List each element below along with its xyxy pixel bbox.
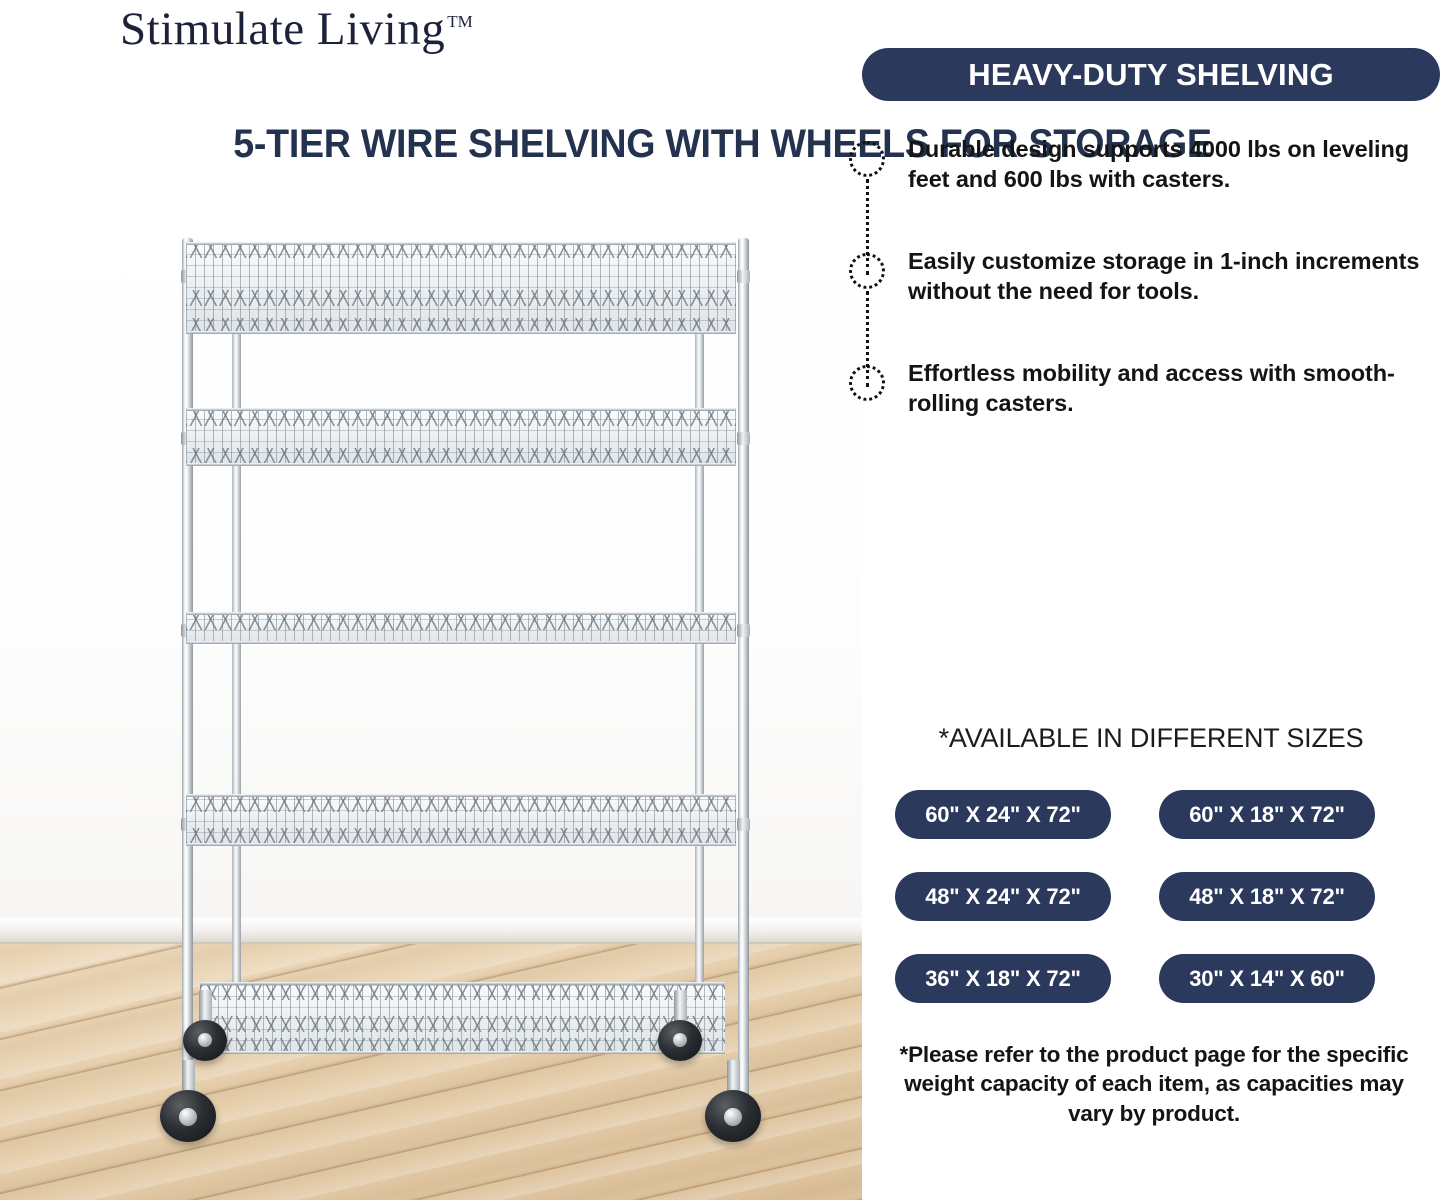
- shelf-tier-5: [200, 982, 725, 1054]
- shelf-collar: [737, 432, 750, 445]
- feature-list: Durable design supports 4000 lbs on leve…: [862, 135, 1445, 471]
- shelf-collar: [737, 624, 750, 637]
- shelf-edge-rail: [186, 794, 736, 797]
- caster-stem: [674, 990, 687, 1024]
- sizes-heading: *AVAILABLE IN DIFFERENT SIZES: [862, 723, 1440, 754]
- shelf-truss: [186, 614, 736, 630]
- shelf-edge-rail: [186, 641, 736, 644]
- heavy-duty-banner-label: HEAVY-DUTY SHELVING: [968, 57, 1334, 93]
- caster-hub: [198, 1033, 212, 1047]
- dotted-circle-icon: [849, 141, 885, 177]
- shelf-edge-rail: [186, 843, 736, 846]
- shelf-truss: [186, 290, 736, 306]
- shelf-post-rear-left: [232, 252, 241, 1042]
- feature-text: Easily customize storage in 1-inch incre…: [908, 247, 1445, 306]
- trademark-symbol: TM: [447, 12, 473, 31]
- caster-hub: [179, 1108, 197, 1126]
- shelf-truss: [200, 984, 725, 1000]
- shelf-edge-rail: [186, 331, 736, 334]
- shelf-edge-rail: [186, 463, 736, 466]
- caster-hub: [724, 1108, 742, 1126]
- brand-logo: Stimulate LivingTM: [120, 2, 473, 56]
- product-photo: [0, 200, 862, 1200]
- feature-item-2: Easily customize storage in 1-inch incre…: [862, 247, 1445, 359]
- shelf-edge-rail: [200, 1051, 725, 1054]
- caster-stem: [182, 1060, 195, 1094]
- capacity-disclaimer: *Please refer to the product page for th…: [884, 1040, 1424, 1128]
- shelf-post-rear-right: [695, 252, 704, 1042]
- caster-hub: [673, 1033, 687, 1047]
- shelf-post-front-right: [738, 238, 749, 1100]
- shelf-tier-1: [186, 242, 736, 334]
- feature-text: Effortless mobility and access with smoo…: [908, 359, 1445, 418]
- size-option-pill[interactable]: 48" X 24" X 72": [895, 872, 1111, 921]
- shelf-tier-2: [186, 408, 736, 466]
- feature-item-3: Effortless mobility and access with smoo…: [862, 359, 1445, 471]
- size-option-pill[interactable]: 36" X 18" X 72": [895, 954, 1111, 1003]
- heavy-duty-banner: HEAVY-DUTY SHELVING: [862, 48, 1440, 101]
- size-option-pill[interactable]: 48" X 18" X 72": [1159, 872, 1375, 921]
- shelf-collar: [737, 818, 750, 831]
- info-column: HEAVY-DUTY SHELVING Durable design suppo…: [862, 0, 1445, 1200]
- shelf-post-front-left: [182, 238, 193, 1100]
- caster-stem: [199, 990, 212, 1024]
- shelf-edge-rail: [186, 612, 736, 615]
- brand-name: Stimulate Living: [120, 3, 445, 55]
- size-option-pill[interactable]: 30" X 14" X 60": [1159, 954, 1375, 1003]
- shelf-truss: [186, 828, 736, 844]
- wire-shelving-unit: [0, 200, 862, 1200]
- size-options-grid: 60" X 24" X 72" 60" X 18" X 72" 48" X 24…: [895, 790, 1435, 1003]
- caster-stem: [727, 1060, 740, 1094]
- feature-item-1: Durable design supports 4000 lbs on leve…: [862, 135, 1445, 247]
- dotted-circle-icon: [849, 253, 885, 289]
- size-option-pill[interactable]: 60" X 18" X 72": [1159, 790, 1375, 839]
- shelf-collar: [737, 270, 750, 283]
- dotted-circle-icon: [849, 365, 885, 401]
- shelf-truss: [186, 410, 736, 426]
- shelf-truss: [186, 448, 736, 464]
- shelf-tier-4: [186, 794, 736, 846]
- shelf-truss: [186, 796, 736, 812]
- shelf-edge-rail: [186, 408, 736, 411]
- shelf-truss: [200, 1016, 725, 1032]
- shelf-tier-3: [186, 612, 736, 644]
- shelf-edge-rail: [200, 982, 725, 985]
- feature-text: Durable design supports 4000 lbs on leve…: [908, 135, 1445, 194]
- shelf-edge-rail: [186, 242, 736, 245]
- size-option-pill[interactable]: 60" X 24" X 72": [895, 790, 1111, 839]
